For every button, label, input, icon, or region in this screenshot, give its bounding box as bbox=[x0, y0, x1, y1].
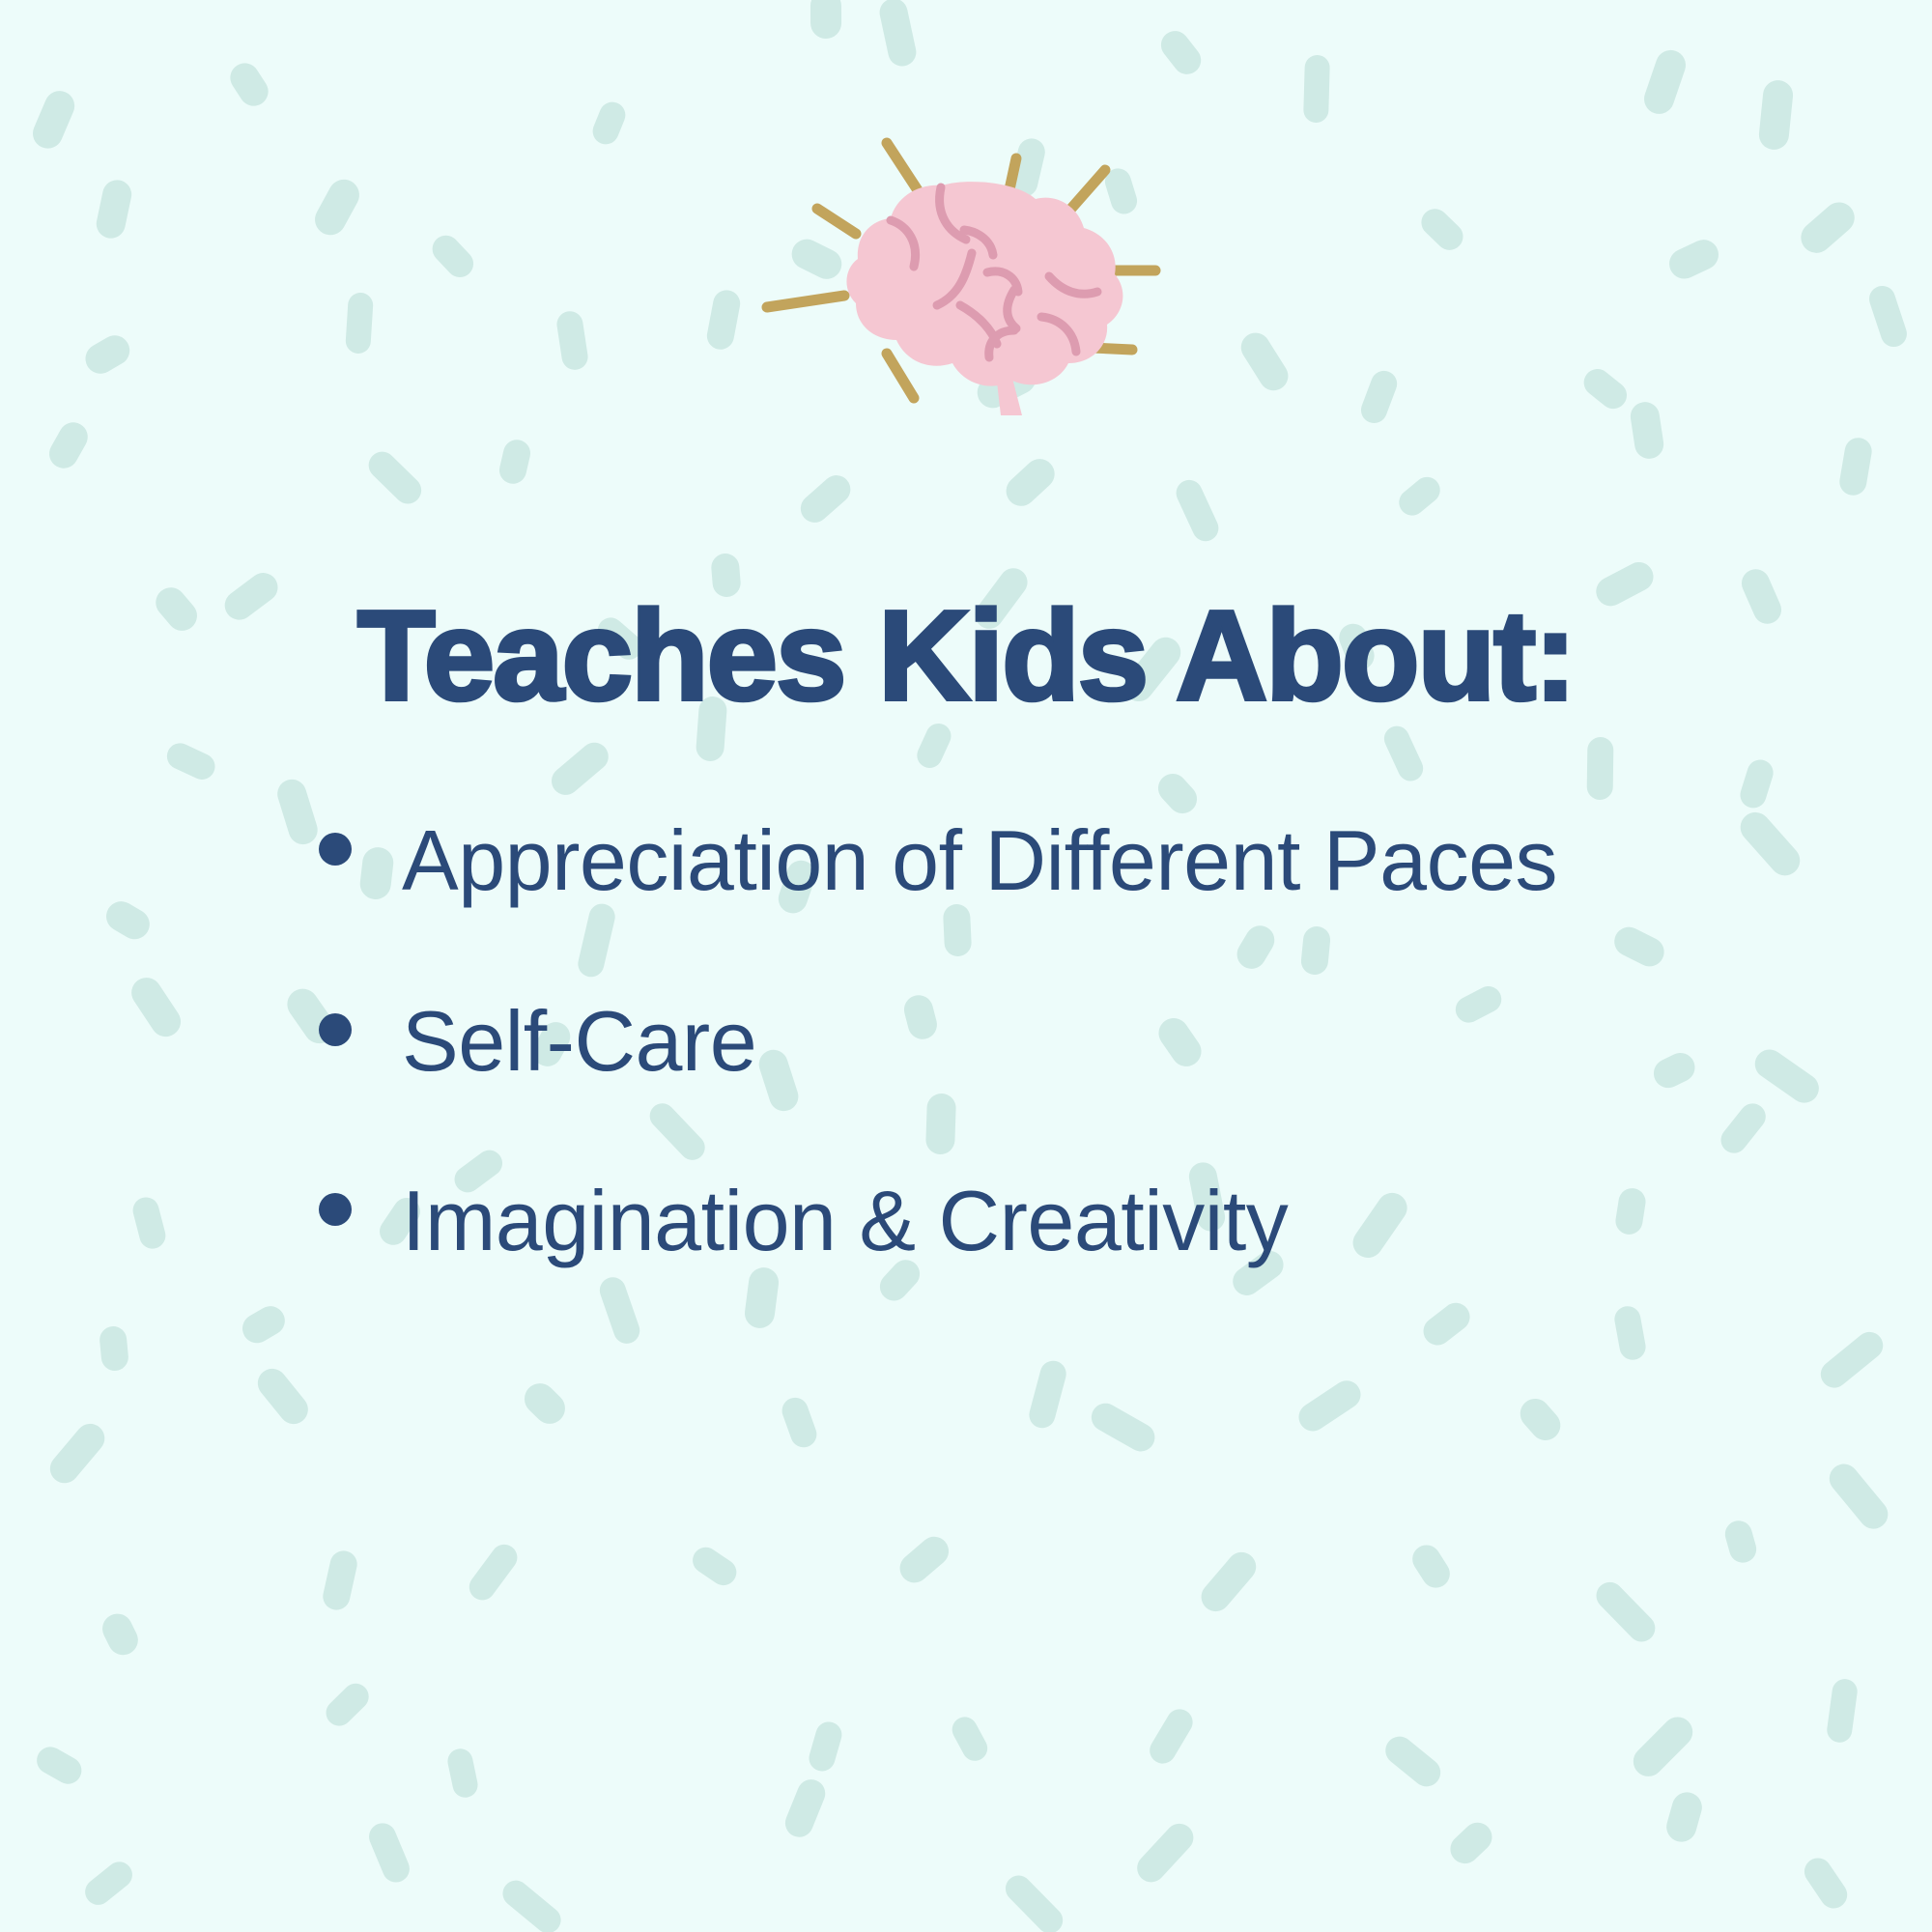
confetti-capsule bbox=[1662, 1789, 1705, 1845]
confetti-capsule bbox=[1716, 1098, 1772, 1159]
brain-icon bbox=[773, 126, 1179, 415]
list-item-label: Appreciation of Different Paces bbox=[402, 792, 1690, 930]
confetti-capsule bbox=[1172, 475, 1223, 545]
confetti-capsule bbox=[807, 1719, 845, 1774]
confetti-capsule bbox=[1795, 196, 1861, 260]
confetti-capsule bbox=[225, 58, 274, 112]
confetti-capsule bbox=[321, 1678, 374, 1731]
confetti-capsule bbox=[464, 1539, 522, 1605]
confetti-capsule bbox=[1196, 1547, 1263, 1617]
confetti-capsule bbox=[779, 1394, 821, 1451]
confetti-capsule bbox=[1627, 1711, 1698, 1782]
confetti-capsule bbox=[237, 1300, 290, 1348]
confetti-capsule bbox=[98, 1325, 128, 1372]
confetti-capsule bbox=[101, 895, 156, 945]
confetti-capsule bbox=[130, 1194, 169, 1251]
brain-shape bbox=[846, 182, 1122, 415]
list-item-label: Self-Care bbox=[402, 973, 1690, 1111]
confetti-capsule bbox=[1734, 806, 1806, 882]
confetti-capsule bbox=[1086, 1398, 1159, 1456]
confetti-capsule bbox=[1824, 1458, 1894, 1534]
confetti-capsule bbox=[94, 177, 134, 241]
confetti-capsule bbox=[781, 1776, 831, 1842]
confetti-capsule bbox=[365, 1819, 413, 1887]
bullet-dot-icon bbox=[319, 833, 352, 866]
confetti-capsule bbox=[687, 1542, 740, 1590]
confetti-capsule bbox=[1590, 1577, 1661, 1648]
confetti-capsule bbox=[80, 330, 135, 380]
confetti-capsule bbox=[1236, 327, 1294, 396]
confetti-capsule bbox=[1587, 736, 1614, 799]
confetti-capsule bbox=[1826, 1678, 1860, 1745]
confetti-capsule bbox=[310, 174, 365, 241]
confetti-capsule bbox=[1026, 1358, 1069, 1432]
confetti-capsule bbox=[555, 309, 590, 371]
confetti-capsule bbox=[588, 98, 629, 148]
confetti-capsule bbox=[1131, 1818, 1199, 1888]
brain-with-rays-illustration bbox=[773, 126, 1179, 415]
confetti-capsule bbox=[28, 86, 79, 154]
confetti-capsule bbox=[427, 230, 479, 283]
confetti-capsule bbox=[1145, 1705, 1197, 1769]
confetti-capsule bbox=[252, 1363, 314, 1431]
list-item: Self-Care bbox=[319, 973, 1690, 1111]
page-title: Teaches Kids About: bbox=[0, 587, 1932, 725]
confetti-capsule bbox=[1578, 363, 1633, 414]
confetti-capsule bbox=[913, 720, 955, 772]
confetti-capsule bbox=[1000, 453, 1061, 513]
confetti-capsule bbox=[1416, 203, 1469, 255]
confetti-capsule bbox=[1737, 756, 1776, 811]
confetti-capsule bbox=[1293, 1376, 1366, 1437]
confetti-capsule bbox=[518, 1378, 571, 1431]
confetti-capsule bbox=[1380, 1731, 1447, 1792]
confetti-capsule bbox=[948, 1713, 992, 1766]
confetti-capsule bbox=[810, 0, 841, 38]
confetti-capsule bbox=[43, 417, 92, 473]
confetti-capsule bbox=[363, 446, 427, 510]
confetti-capsule bbox=[1721, 1518, 1759, 1566]
confetti-capsule bbox=[1837, 436, 1874, 497]
list-item-label: Imagination & Creativity bbox=[402, 1152, 1690, 1291]
confetti-capsule bbox=[895, 1531, 954, 1588]
confetti-capsule bbox=[1444, 1817, 1497, 1870]
confetti-capsule bbox=[705, 288, 743, 352]
confetti-capsule bbox=[1664, 235, 1723, 284]
confetti-capsule bbox=[32, 1742, 86, 1789]
confetti-capsule bbox=[1155, 25, 1207, 79]
confetti-capsule bbox=[877, 0, 919, 70]
confetti-capsule bbox=[1380, 722, 1428, 784]
confetti-capsule bbox=[497, 437, 533, 486]
confetti-capsule bbox=[1749, 1044, 1825, 1109]
confetti-capsule bbox=[1303, 55, 1330, 123]
confetti-capsule bbox=[43, 1418, 110, 1490]
confetti-capsule bbox=[126, 972, 186, 1042]
poster-canvas: Teaches Kids About: Appreciation of Diff… bbox=[0, 0, 1932, 1932]
bullet-dot-icon bbox=[319, 1193, 352, 1226]
confetti-capsule bbox=[1629, 400, 1665, 460]
bullet-dot-icon bbox=[319, 1013, 352, 1046]
list-item: Imagination & Creativity bbox=[319, 1152, 1690, 1291]
confetti-capsule bbox=[1640, 46, 1690, 118]
confetti-capsule bbox=[163, 739, 220, 784]
confetti-capsule bbox=[98, 1608, 143, 1660]
confetti-capsule bbox=[320, 1548, 359, 1613]
confetti-capsule bbox=[1394, 471, 1445, 521]
confetti-capsule bbox=[795, 469, 857, 528]
confetti-capsule bbox=[1515, 1392, 1567, 1446]
confetti-capsule bbox=[345, 292, 374, 355]
confetti-capsule bbox=[1001, 1870, 1068, 1932]
list-item: Appreciation of Different Paces bbox=[319, 792, 1690, 930]
confetti-capsule bbox=[1357, 367, 1401, 427]
confetti-capsule bbox=[79, 1857, 137, 1911]
confetti-capsule bbox=[1758, 79, 1795, 151]
confetti-capsule bbox=[445, 1747, 480, 1800]
confetti-capsule bbox=[274, 776, 322, 848]
feature-bullet-list: Appreciation of Different Paces Self-Car… bbox=[319, 792, 1690, 1333]
confetti-capsule bbox=[497, 1875, 566, 1932]
confetti-capsule bbox=[1799, 1853, 1852, 1914]
confetti-capsule bbox=[1407, 1540, 1456, 1593]
confetti-capsule bbox=[1865, 283, 1910, 351]
confetti-capsule bbox=[1815, 1326, 1889, 1393]
